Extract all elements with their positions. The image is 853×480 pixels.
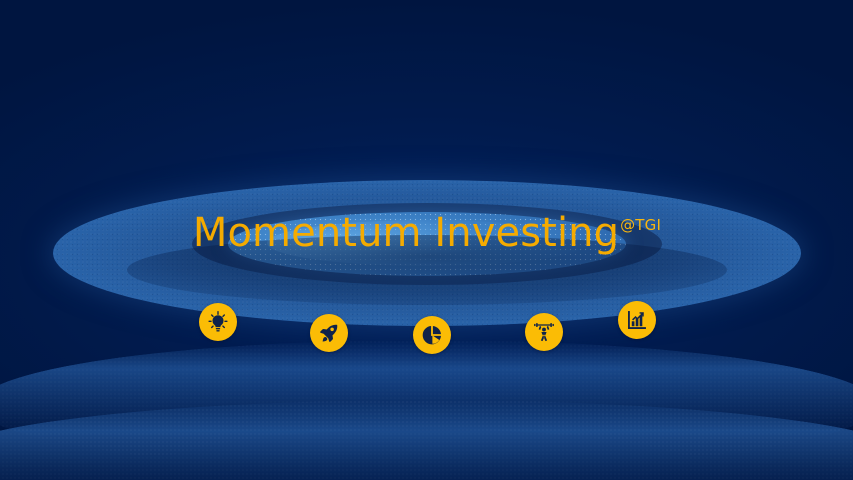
slide-canvas: Momentum Investing@TGI [0, 0, 853, 480]
bar-chart-up-icon[interactable] [618, 301, 656, 339]
lightbulb-icon[interactable] [199, 303, 237, 341]
pie-chart-icon[interactable] [413, 316, 451, 354]
title-superscript-handle: @TGI [620, 216, 661, 234]
slide-title: Momentum Investing [193, 210, 619, 256]
rocket-icon[interactable] [310, 314, 348, 352]
reflection-arc-lower [0, 400, 853, 480]
reflection-arc-texture [0, 400, 853, 480]
title-block: Momentum Investing@TGI [0, 210, 853, 256]
weightlifter-icon[interactable] [525, 313, 563, 351]
